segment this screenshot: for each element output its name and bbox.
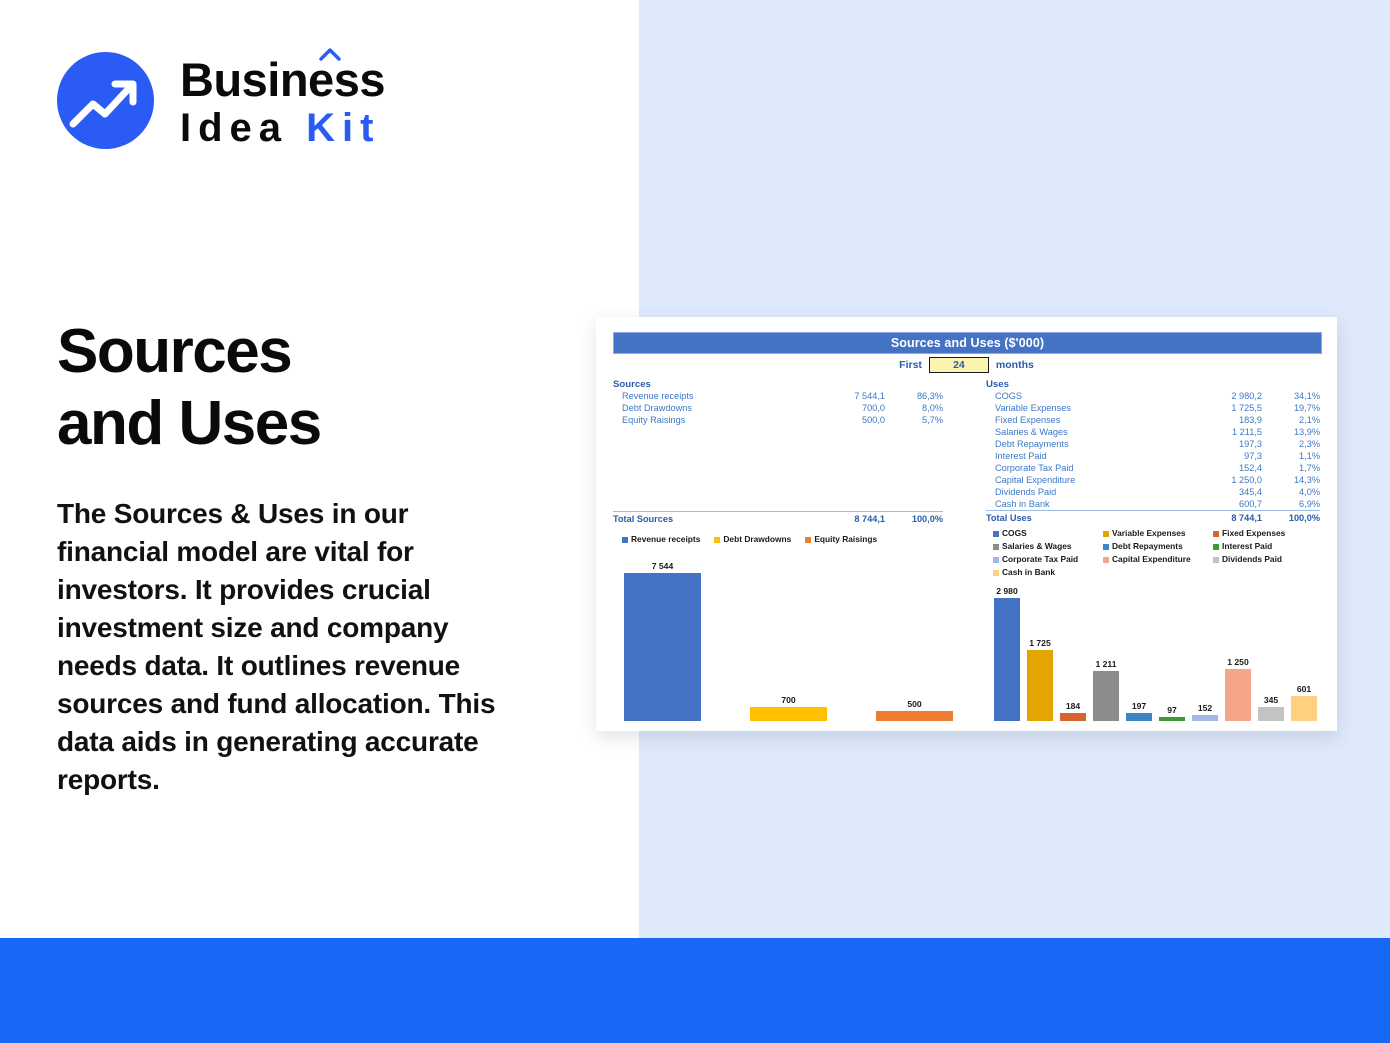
- sources-rows: Revenue receipts7 544,186,3%Debt Drawdow…: [613, 390, 943, 426]
- legend-label: Fixed Expenses: [1222, 527, 1285, 540]
- bar[interactable]: [994, 598, 1020, 721]
- bar-column: 97: [1159, 582, 1185, 721]
- table-row: Interest Paid97,31,1%: [986, 450, 1320, 462]
- legend-item[interactable]: Variable Expenses: [1103, 527, 1213, 540]
- uses-row-value: 345,4: [1200, 486, 1262, 498]
- bar-value-label: 184: [1060, 701, 1086, 711]
- bar-value-label: 601: [1291, 684, 1317, 694]
- uses-total-label: Total Uses: [986, 512, 1032, 525]
- sources-row-label: Equity Raisings: [613, 414, 685, 426]
- uses-row-label: Fixed Expenses: [986, 414, 1060, 426]
- bar-column: 1 725: [1027, 582, 1053, 721]
- uses-row-label: COGS: [986, 390, 1022, 402]
- legend-item[interactable]: Capital Expenditure: [1103, 553, 1213, 566]
- uses-row-label: Corporate Tax Paid: [986, 462, 1073, 474]
- bar-value-label: 1 725: [1027, 638, 1053, 648]
- bar-column: 2 980: [994, 582, 1020, 721]
- bar-value-label: 345: [1258, 695, 1284, 705]
- uses-row-label: Dividends Paid: [986, 486, 1056, 498]
- brand-logo: Business Idea Kit: [57, 52, 437, 152]
- bar[interactable]: [876, 711, 953, 721]
- uses-row-label: Salaries & Wages: [986, 426, 1068, 438]
- circumflex-accent-icon: [319, 47, 341, 61]
- legend-label: Capital Expenditure: [1112, 553, 1191, 566]
- brand-name-idea: Idea: [180, 106, 306, 150]
- uses-row-value: 1 211,5: [1200, 426, 1262, 438]
- legend-swatch-icon: [993, 557, 999, 563]
- uses-total-pct: 100,0%: [1262, 512, 1320, 525]
- legend-item[interactable]: Fixed Expenses: [1213, 527, 1323, 540]
- uses-row-value: 183,9: [1200, 414, 1262, 426]
- legend-label: Interest Paid: [1222, 540, 1272, 553]
- bar-value-label: 97: [1159, 705, 1185, 715]
- uses-row-pct: 14,3%: [1262, 474, 1320, 486]
- uses-row-pct: 13,9%: [1262, 426, 1320, 438]
- sources-table: Sources Revenue receipts7 544,186,3%Debt…: [613, 379, 943, 526]
- legend-item[interactable]: Corporate Tax Paid: [993, 553, 1103, 566]
- legend-swatch-icon: [993, 544, 999, 550]
- legend-label: Debt Repayments: [1112, 540, 1183, 553]
- bar[interactable]: [1060, 713, 1086, 721]
- bar-value-label: 1 211: [1093, 659, 1119, 669]
- legend-label: COGS: [1002, 527, 1027, 540]
- legend-item[interactable]: Salaries & Wages: [993, 540, 1103, 553]
- bar-column: 700: [750, 555, 827, 721]
- sources-row-pct: 86,3%: [885, 390, 943, 402]
- uses-row-pct: 2,1%: [1262, 414, 1320, 426]
- uses-row-pct: 2,3%: [1262, 438, 1320, 450]
- uses-row-label: Debt Repayments: [986, 438, 1069, 450]
- bar-column: 1 211: [1093, 582, 1119, 721]
- legend-label: Equity Raisings: [814, 533, 877, 546]
- period-suffix-label: months: [996, 359, 1034, 371]
- legend-label: Variable Expenses: [1112, 527, 1186, 540]
- table-row: Debt Repayments197,32,3%: [986, 438, 1320, 450]
- uses-row-pct: 19,7%: [1262, 402, 1320, 414]
- legend-swatch-icon: [714, 537, 720, 543]
- table-row: Variable Expenses1 725,519,7%: [986, 402, 1320, 414]
- sources-row-value: 500,0: [823, 414, 885, 426]
- bar[interactable]: [1225, 669, 1251, 721]
- legend-swatch-icon: [1213, 544, 1219, 550]
- page-description: The Sources & Uses in our financial mode…: [57, 495, 507, 799]
- legend-item[interactable]: COGS: [993, 527, 1103, 540]
- brand-name-line1-text: Business: [180, 53, 385, 106]
- uses-row-value: 1 725,5: [1200, 402, 1262, 414]
- legend-swatch-icon: [1213, 557, 1219, 563]
- legend-swatch-icon: [1103, 531, 1109, 537]
- uses-chart-legend: COGSVariable ExpensesFixed ExpensesSalar…: [993, 527, 1323, 579]
- bar-value-label: 1 250: [1225, 657, 1251, 667]
- bar-column: 601: [1291, 582, 1317, 721]
- uses-table: Uses COGS2 980,234,1%Variable Expenses1 …: [986, 379, 1320, 525]
- legend-item[interactable]: Cash in Bank: [993, 566, 1103, 579]
- legend-label: Debt Drawdowns: [723, 533, 791, 546]
- sources-bar-chart: 7 544700500: [613, 555, 943, 721]
- bar-column: 345: [1258, 582, 1284, 721]
- uses-row-pct: 1,1%: [1262, 450, 1320, 462]
- uses-row-value: 2 980,2: [1200, 390, 1262, 402]
- brand-name-kit: Kit: [306, 106, 380, 150]
- sources-row-pct: 8,0%: [885, 402, 943, 414]
- uses-total-row: Total Uses 8 744,1 100,0%: [986, 510, 1320, 525]
- table-row: Equity Raisings500,05,7%: [613, 414, 943, 426]
- bar[interactable]: [1258, 707, 1284, 721]
- legend-item[interactable]: Dividends Paid: [1213, 553, 1323, 566]
- table-row: COGS2 980,234,1%: [986, 390, 1320, 402]
- legend-label: Cash in Bank: [1002, 566, 1055, 579]
- legend-item[interactable]: Revenue receipts: [622, 533, 700, 546]
- uses-total-value: 8 744,1: [1200, 512, 1262, 525]
- bar-value-label: 7 544: [624, 561, 701, 571]
- bar-column: 184: [1060, 582, 1086, 721]
- uses-heading: Uses: [986, 379, 1320, 390]
- table-row: Capital Expenditure1 250,014,3%: [986, 474, 1320, 486]
- table-row: Fixed Expenses183,92,1%: [986, 414, 1320, 426]
- table-row: Debt Drawdowns700,08,0%: [613, 402, 943, 414]
- bar-value-label: 2 980: [994, 586, 1020, 596]
- legend-swatch-icon: [1103, 557, 1109, 563]
- sources-row-pct: 5,7%: [885, 414, 943, 426]
- sources-chart-legend: Revenue receiptsDebt DrawdownsEquity Rai…: [622, 533, 942, 546]
- bar[interactable]: [624, 573, 701, 721]
- uses-row-pct: 4,0%: [1262, 486, 1320, 498]
- bar[interactable]: [1093, 671, 1119, 721]
- uses-row-pct: 6,9%: [1262, 498, 1320, 510]
- bar-column: 500: [876, 555, 953, 721]
- bar-value-label: 197: [1126, 701, 1152, 711]
- bar-column: 7 544: [624, 555, 701, 721]
- bar[interactable]: [750, 707, 827, 721]
- bar-column: 152: [1192, 582, 1218, 721]
- table-row: Cash in Bank600,76,9%: [986, 498, 1320, 510]
- sources-row-label: Revenue receipts: [613, 390, 694, 402]
- uses-row-value: 197,3: [1200, 438, 1262, 450]
- legend-swatch-icon: [993, 531, 999, 537]
- bar-value-label: 152: [1192, 703, 1218, 713]
- legend-label: Salaries & Wages: [1002, 540, 1072, 553]
- uses-row-label: Cash in Bank: [986, 498, 1050, 510]
- uses-bar-chart: 2 9801 7251841 211197971521 250345601: [986, 582, 1320, 721]
- uses-row-value: 97,3: [1200, 450, 1262, 462]
- legend-label: Dividends Paid: [1222, 553, 1282, 566]
- legend-swatch-icon: [805, 537, 811, 543]
- brand-name-line2: Idea Kit: [180, 106, 385, 150]
- uses-row-pct: 34,1%: [1262, 390, 1320, 402]
- uses-row-label: Capital Expenditure: [986, 474, 1075, 486]
- slide-canvas: Business Idea Kit Sources and Uses The S…: [0, 0, 1390, 1043]
- legend-item[interactable]: Debt Repayments: [1103, 540, 1213, 553]
- table-row: Salaries & Wages1 211,513,9%: [986, 426, 1320, 438]
- footer-color-band: [0, 938, 1390, 1043]
- sources-total-value: 8 744,1: [823, 513, 885, 526]
- legend-label: Revenue receipts: [631, 533, 700, 546]
- legend-swatch-icon: [1103, 544, 1109, 550]
- period-prefix-label: First: [899, 359, 922, 371]
- legend-swatch-icon: [1213, 531, 1219, 537]
- uses-row-value: 152,4: [1200, 462, 1262, 474]
- uses-row-value: 600,7: [1200, 498, 1262, 510]
- sources-row-value: 7 544,1: [823, 390, 885, 402]
- uses-rows: COGS2 980,234,1%Variable Expenses1 725,5…: [986, 390, 1320, 510]
- sources-total-row: Total Sources 8 744,1 100,0%: [613, 511, 943, 526]
- legend-item[interactable]: Equity Raisings: [805, 533, 877, 546]
- sheet-title-bar: Sources and Uses ($'000): [613, 332, 1322, 354]
- bar[interactable]: [1126, 713, 1152, 721]
- uses-row-label: Variable Expenses: [986, 402, 1071, 414]
- legend-swatch-icon: [622, 537, 628, 543]
- page-title: Sources and Uses: [57, 316, 577, 460]
- bar[interactable]: [1192, 715, 1218, 721]
- bar[interactable]: [1159, 717, 1185, 721]
- period-selector-row: First 24 months: [613, 356, 1320, 373]
- bar-column: 197: [1126, 582, 1152, 721]
- bar[interactable]: [1027, 650, 1053, 721]
- table-row: Corporate Tax Paid152,41,7%: [986, 462, 1320, 474]
- legend-label: Corporate Tax Paid: [1002, 553, 1078, 566]
- bar-value-label: 500: [876, 699, 953, 709]
- table-row: Dividends Paid345,44,0%: [986, 486, 1320, 498]
- legend-item[interactable]: Interest Paid: [1213, 540, 1323, 553]
- uses-row-label: Interest Paid: [986, 450, 1047, 462]
- growth-arrow-icon: [57, 52, 154, 149]
- sources-total-label: Total Sources: [613, 513, 673, 526]
- uses-row-pct: 1,7%: [1262, 462, 1320, 474]
- brand-name-line1: Business: [180, 54, 385, 106]
- spreadsheet-card: Sources and Uses ($'000) First 24 months…: [596, 317, 1337, 731]
- legend-swatch-icon: [993, 570, 999, 576]
- brand-wordmark: Business Idea Kit: [180, 54, 385, 150]
- sources-heading: Sources: [613, 379, 943, 390]
- uses-row-value: 1 250,0: [1200, 474, 1262, 486]
- sources-total-pct: 100,0%: [885, 513, 943, 526]
- bar[interactable]: [1291, 696, 1317, 721]
- bar-column: 1 250: [1225, 582, 1251, 721]
- legend-item[interactable]: Debt Drawdowns: [714, 533, 791, 546]
- period-months-input[interactable]: 24: [929, 357, 989, 373]
- sources-row-label: Debt Drawdowns: [613, 402, 692, 414]
- table-row: Revenue receipts7 544,186,3%: [613, 390, 943, 402]
- bar-value-label: 700: [750, 695, 827, 705]
- sources-row-value: 700,0: [823, 402, 885, 414]
